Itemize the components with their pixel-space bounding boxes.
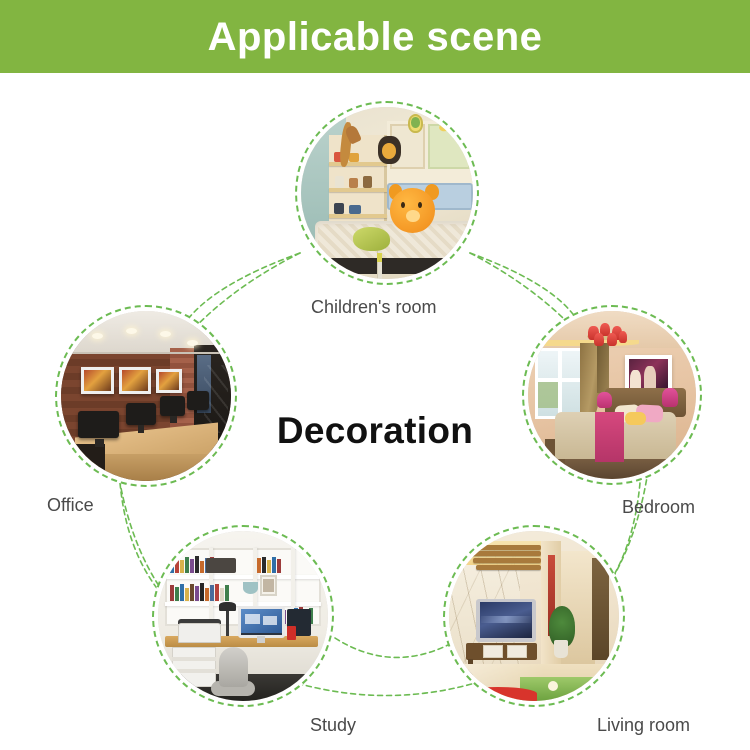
office-circle[interactable] [55, 305, 237, 487]
scene-diagram: Decoration [0, 73, 750, 750]
bedroom-photo [528, 311, 696, 479]
header-banner: Applicable scene [0, 0, 750, 73]
scene-node-office[interactable]: Office [55, 305, 237, 487]
connector-study-living [335, 638, 448, 657]
study-circle[interactable] [152, 525, 334, 707]
scene-node-living-room[interactable]: Living room [443, 525, 625, 707]
childrens-room-circle[interactable] [295, 101, 479, 285]
center-label: Decoration [0, 410, 750, 452]
scene-node-childrens-room[interactable]: Children's room [295, 101, 479, 285]
scene-node-study[interactable]: Study [152, 525, 334, 707]
study-photo [158, 531, 328, 701]
childrens-room-photo [301, 107, 473, 279]
living-room-circle[interactable] [443, 525, 625, 707]
applicable-scene-infographic: Applicable scene [0, 0, 750, 750]
label-living-room: Living room [597, 715, 690, 736]
bedroom-circle[interactable] [522, 305, 702, 485]
page-title: Applicable scene [208, 17, 543, 57]
office-photo [61, 311, 231, 481]
label-office: Office [47, 495, 94, 516]
living-room-photo [449, 531, 619, 701]
scene-node-bedroom[interactable]: Bedroom [522, 305, 702, 485]
label-bedroom: Bedroom [622, 497, 695, 518]
label-study: Study [310, 715, 356, 736]
label-childrens-room: Children's room [311, 297, 436, 318]
